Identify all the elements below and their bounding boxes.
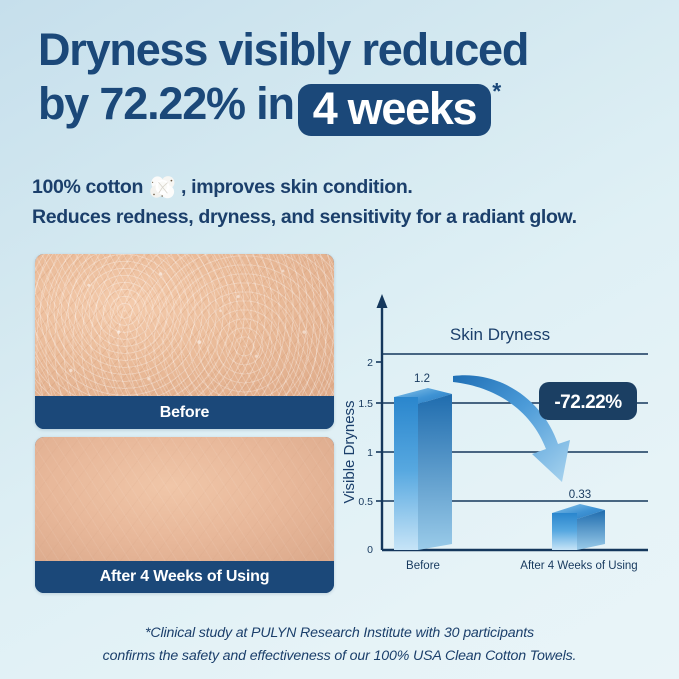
headline-pill-4-weeks: 4 weeks bbox=[298, 84, 492, 136]
reduction-badge-label: -72.22% bbox=[554, 392, 622, 413]
headline-line-2: by 72.22% in4 weeks* bbox=[38, 78, 659, 136]
y-axis-arrowhead bbox=[377, 294, 388, 308]
headline-line-1: Dryness visibly reduced bbox=[38, 24, 659, 76]
chart-x-tick-labels: Before After 4 Weeks of Using bbox=[406, 560, 638, 572]
after-skin-photo bbox=[35, 437, 334, 561]
before-card-label: Before bbox=[35, 396, 334, 429]
bar-before-value-label: 1.2 bbox=[414, 373, 430, 385]
headline: Dryness visibly reduced by 72.22% in4 we… bbox=[38, 24, 659, 136]
y-tick-1: 1 bbox=[367, 447, 373, 459]
after-card-label: After 4 Weeks of Using bbox=[35, 561, 334, 593]
chart-title: Skin Dryness bbox=[450, 325, 550, 344]
footnote-line-2: confirms the safety and effectiveness of… bbox=[0, 645, 679, 668]
bar-after-value-label: 0.33 bbox=[569, 489, 591, 501]
cotton-boll-icon bbox=[148, 174, 178, 200]
before-skin-photo bbox=[35, 254, 334, 396]
headline-line-2-prefix: by 72.22% in bbox=[38, 78, 294, 129]
after-image-card: After 4 Weeks of Using bbox=[35, 437, 334, 593]
y-tick-0: 0 bbox=[367, 544, 373, 556]
subtitle-line-1: 100% cotton , improves skin condi bbox=[32, 172, 659, 202]
bar-after bbox=[552, 504, 605, 550]
footnote: *Clinical study at PULYN Research Instit… bbox=[0, 622, 679, 669]
subtitle-line-1-pre: 100% cotton bbox=[32, 172, 143, 202]
subtitle: 100% cotton , improves skin condi bbox=[32, 172, 659, 232]
chart-svg: Skin Dryness Visible Dryness 0 0.5 1 1.5… bbox=[340, 292, 670, 584]
bar-before bbox=[394, 388, 452, 550]
y-tick-0.5: 0.5 bbox=[358, 496, 373, 508]
headline-asterisk: * bbox=[492, 78, 500, 104]
footnote-line-1: *Clinical study at PULYN Research Instit… bbox=[0, 622, 679, 645]
x-tick-before: Before bbox=[406, 560, 440, 572]
skin-dryness-bar-chart: Skin Dryness Visible Dryness 0 0.5 1 1.5… bbox=[340, 292, 670, 584]
subtitle-line-1-post: , improves skin condition. bbox=[181, 172, 412, 202]
reduction-badge: -72.22% bbox=[539, 382, 637, 420]
y-tick-2: 2 bbox=[367, 357, 373, 369]
x-tick-after: After 4 Weeks of Using bbox=[520, 560, 637, 572]
chart-y-axis-label: Visible Dryness bbox=[341, 400, 358, 503]
subtitle-line-2: Reduces redness, dryness, and sensitivit… bbox=[32, 202, 659, 232]
y-tick-1.5: 1.5 bbox=[358, 398, 373, 410]
before-image-card: Before bbox=[35, 254, 334, 429]
chart-y-tick-labels: 0 0.5 1 1.5 2 bbox=[358, 357, 373, 556]
